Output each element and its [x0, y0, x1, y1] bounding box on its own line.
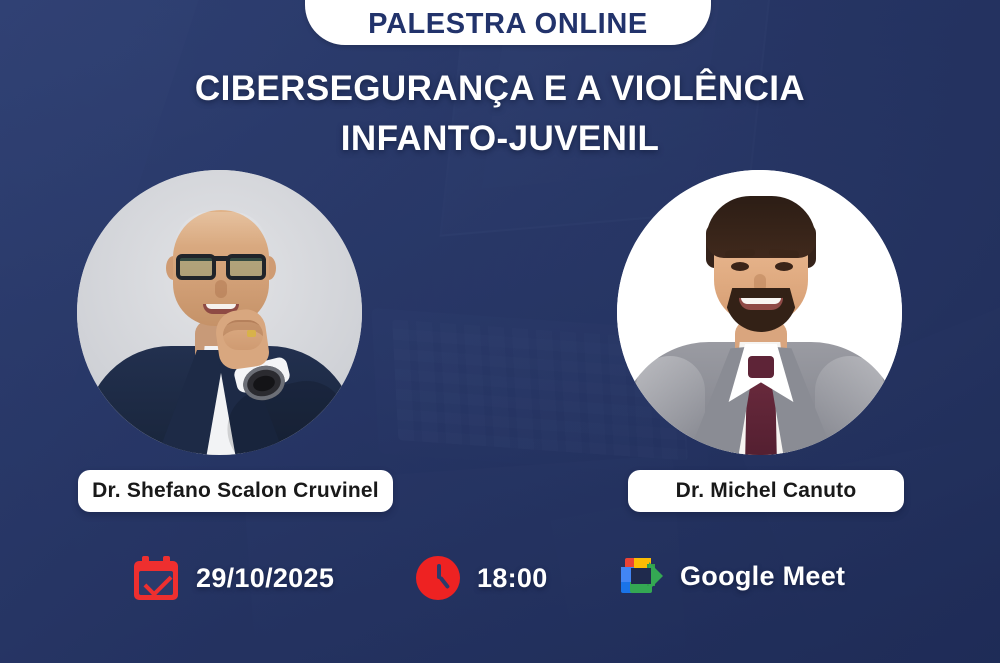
speaker-photo-michel: [617, 170, 902, 455]
clock-icon: [416, 556, 460, 600]
event-time: 18:00: [416, 556, 548, 600]
speaker-name-pill-shefano: Dr. Shefano Scalon Cruvinel: [78, 470, 393, 512]
event-poster: PALESTRA ONLINE CIBERSEGURANÇA E A VIOLÊ…: [0, 0, 1000, 663]
glasses-lens-left: [176, 254, 216, 280]
event-time-label: 18:00: [477, 563, 548, 594]
palestra-online-badge: PALESTRA ONLINE: [305, 0, 711, 45]
page-title: CIBERSEGURANÇA E A VIOLÊNCIA INFANTO-JUV…: [0, 64, 1000, 163]
event-date: 29/10/2025: [134, 556, 334, 600]
speaker-name-pill-michel: Dr. Michel Canuto: [628, 470, 904, 512]
speaker-name-label: Dr. Michel Canuto: [676, 479, 857, 503]
ring: [247, 330, 256, 337]
tie-knot: [748, 356, 774, 378]
speaker-name-label: Dr. Shefano Scalon Cruvinel: [92, 479, 379, 503]
event-date-label: 29/10/2025: [196, 563, 334, 594]
title-line-1: CIBERSEGURANÇA E A VIOLÊNCIA: [195, 69, 805, 108]
hair: [706, 196, 816, 258]
nose: [215, 280, 227, 298]
speaker-photo-shefano: [77, 170, 362, 455]
calendar-check-icon: [134, 556, 178, 600]
eye-left: [731, 262, 749, 271]
event-platform: Google Meet: [620, 558, 845, 594]
google-meet-icon: [620, 558, 664, 594]
fingers: [223, 320, 263, 350]
teeth: [206, 304, 236, 309]
mustache: [735, 288, 787, 298]
title-line-2: INFANTO-JUVENIL: [0, 114, 1000, 164]
event-platform-label: Google Meet: [680, 561, 845, 592]
eye-right: [775, 262, 793, 271]
glasses-lens-right: [226, 254, 266, 280]
badge-label: PALESTRA ONLINE: [368, 10, 648, 39]
